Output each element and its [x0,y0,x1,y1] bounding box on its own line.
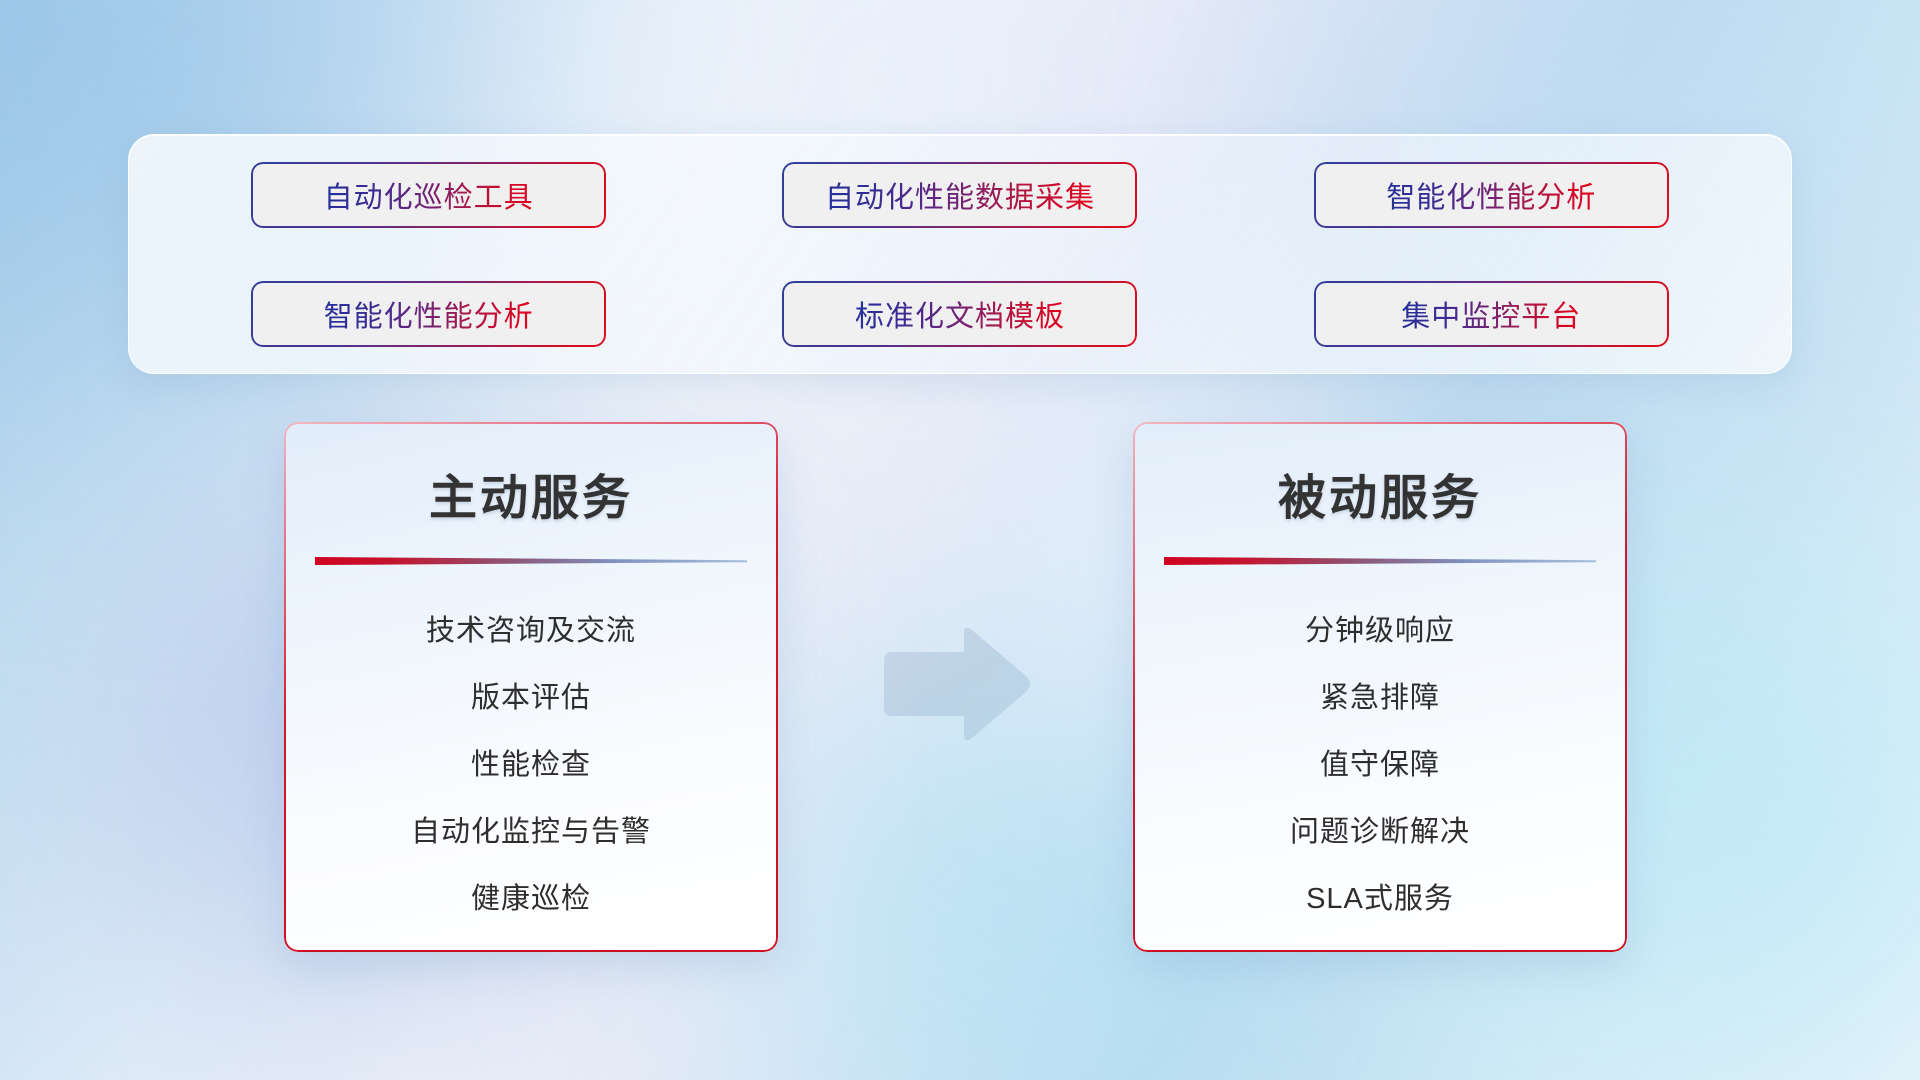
tool-pill[interactable]: 集中监控平台 [1314,281,1669,347]
passive-service-divider [1164,554,1596,566]
active-service-list: 技术咨询及交流 版本评估 性能检查 自动化监控与告警 健康巡检 [284,598,778,933]
service-list-item: 自动化监控与告警 [284,799,778,866]
tool-pill-label: 标准化文档模板 [855,293,1065,335]
tool-pill-label: 自动化巡检工具 [324,174,534,216]
tool-pill-label: 智能化性能分析 [1386,174,1596,216]
service-list-item: SLA式服务 [1133,866,1627,933]
service-list-item: 技术咨询及交流 [284,598,778,665]
passive-service-list: 分钟级响应 紧急排障 值守保障 问题诊断解决 SLA式服务 [1133,598,1627,933]
active-service-card: 主动服务 技术咨询及交流 版本评估 性能检查 自动化监控与告警 [284,422,778,952]
service-list-item: 值守保障 [1133,732,1627,799]
service-list-item: 问题诊断解决 [1133,799,1627,866]
tool-pill-label: 智能化性能分析 [324,293,534,335]
service-list-item: 性能检查 [284,732,778,799]
tool-pill[interactable]: 自动化性能数据采集 [782,162,1137,228]
diagram-stage: 自动化巡检工具 自动化性能数据采集 智能化性能分析 智能化性能分析 标准化文档模… [0,0,1920,1080]
service-list-item: 版本评估 [284,665,778,732]
tool-pill-label: 自动化性能数据采集 [825,174,1095,216]
active-service-divider [315,554,747,566]
tool-pill[interactable]: 智能化性能分析 [251,281,606,347]
tool-pill-label: 集中监控平台 [1401,293,1581,335]
passive-service-title: 被动服务 [1133,458,1627,528]
tool-pill[interactable]: 自动化巡检工具 [251,162,606,228]
service-list-item: 分钟级响应 [1133,598,1627,665]
tool-pill[interactable]: 标准化文档模板 [782,281,1137,347]
tool-pill[interactable]: 智能化性能分析 [1314,162,1669,228]
arrow-right-icon [876,620,1036,748]
active-service-title: 主动服务 [284,458,778,528]
service-list-item: 紧急排障 [1133,665,1627,732]
service-list-item: 健康巡检 [284,866,778,933]
tools-panel: 自动化巡检工具 自动化性能数据采集 智能化性能分析 智能化性能分析 标准化文档模… [128,134,1792,374]
passive-service-card: 被动服务 分钟级响应 紧急排障 值守保障 问题诊断解决 [1133,422,1627,952]
